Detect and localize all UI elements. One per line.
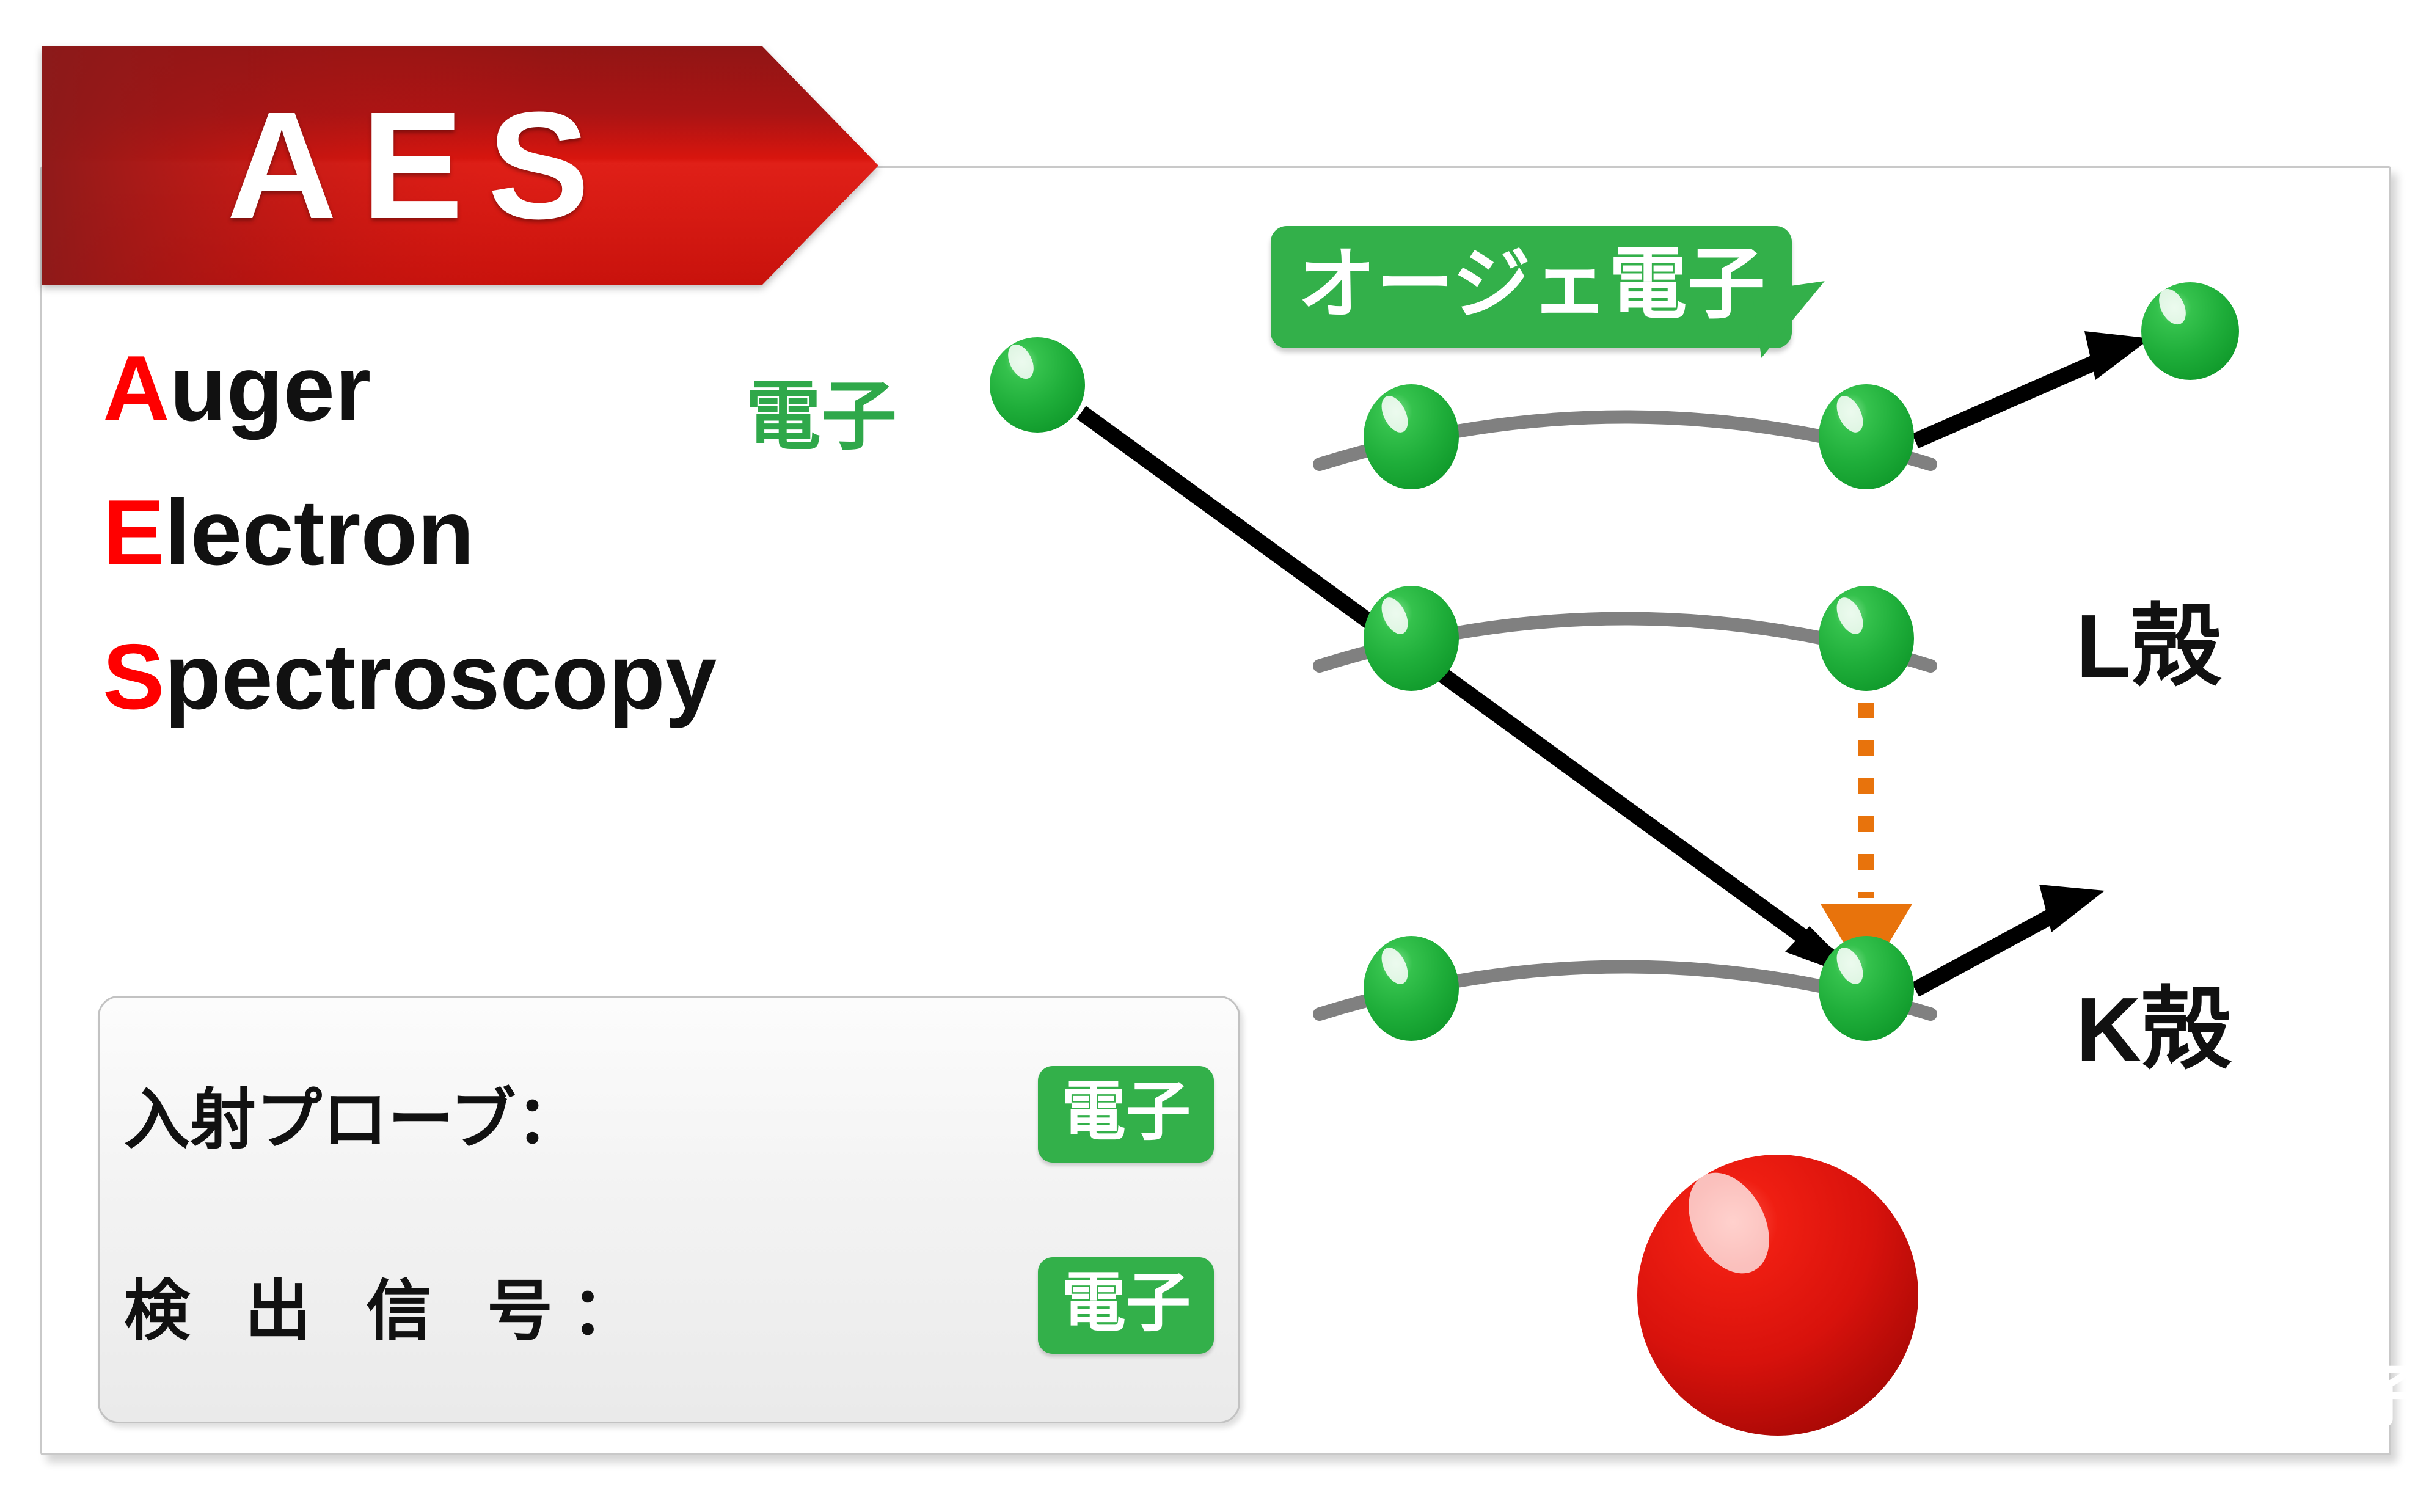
electron-incident [990, 337, 1085, 433]
nucleus-label: 原子核 [2230, 1362, 2429, 1431]
acronym-initial-s: S [103, 625, 164, 729]
acronym-initial-a: A [103, 337, 170, 440]
auger-electron-callout: オージェ電子 [1271, 226, 1792, 348]
auger-emission-path [1915, 354, 2114, 441]
electron-auger-emitted [2141, 282, 2239, 380]
incident-electron-label: 電子 [745, 379, 897, 455]
shell-label-outer: L殻 [2076, 602, 2221, 692]
auger-electron-callout-label: オージェ電子 [1271, 226, 1792, 348]
electron-outer-left [1364, 384, 1459, 489]
nucleus-sphere [1637, 1155, 1918, 1436]
acronym-rest-electron: lectron [164, 481, 474, 585]
auger-process-diagram: 原子核 [703, 202, 2389, 1454]
aes-ribbon-banner: AES [42, 46, 878, 285]
k-ejection-path [1915, 907, 2068, 990]
electron-outer-right [1819, 384, 1914, 489]
banner-title: AES [42, 46, 775, 285]
acronym-rest-spectroscopy: pectroscopy [164, 625, 717, 729]
acronym-initial-e: E [103, 481, 164, 585]
diagram-graphics [703, 202, 2389, 1454]
callout-tail-icon [1752, 281, 1834, 358]
shell-label-inner: K殻 [2076, 985, 2232, 1075]
electron-l-left [1364, 586, 1459, 691]
incident-electron-path [1081, 412, 1830, 956]
screenshot-root: AES Auger Electron Spectroscopy 入射プローブ： … [0, 0, 2429, 1512]
electron-k-right [1819, 936, 1914, 1041]
electron-k-left [1364, 936, 1459, 1041]
auger-emission-arrowhead [2084, 331, 2150, 380]
electron-l-right [1819, 586, 1914, 691]
acronym-rest-auger: uger [170, 337, 371, 440]
